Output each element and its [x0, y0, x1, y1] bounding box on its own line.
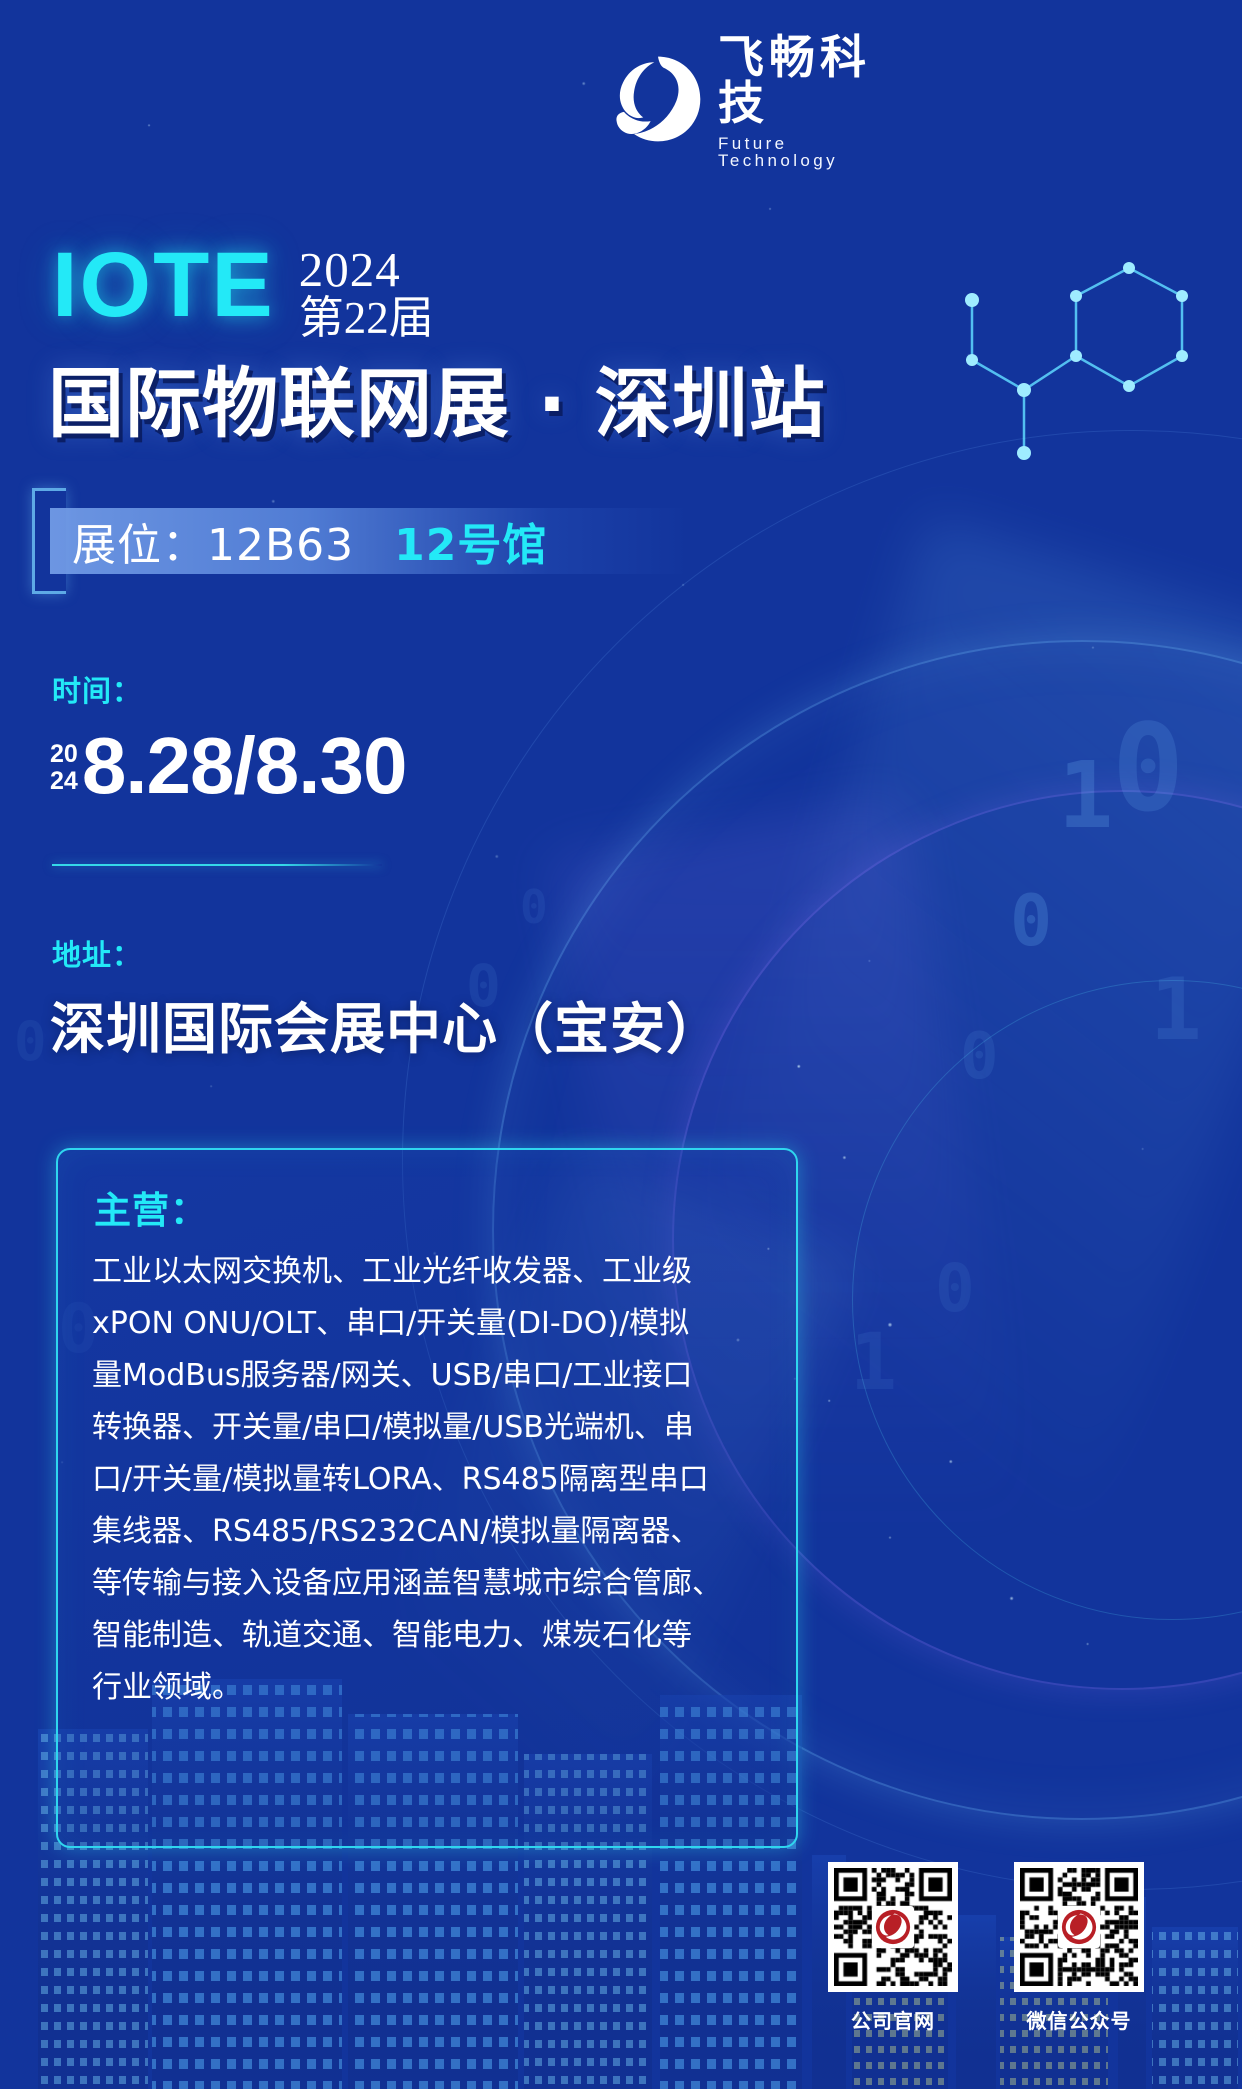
company-logo: 飞畅科技 Future Technology: [612, 46, 912, 152]
poster-canvas: 1 0 0 1 0 1 0 0 0 0 0: [0, 0, 1242, 2089]
qr-caption-wechat: 微信公众号: [1027, 2005, 1132, 2034]
products-line: 工业以太网交换机、工业光纤收发器、工业级: [92, 1246, 766, 1298]
event-acronym-block: IOTE 2024 第22届: [52, 243, 434, 342]
event-year: 2024: [299, 245, 434, 295]
products-description: 工业以太网交换机、工业光纤收发器、工业级 xPON ONU/OLT、串口/开关量…: [92, 1246, 766, 1714]
event-acronym: IOTE: [52, 243, 275, 328]
products-line: 转换器、开关量/串口/模拟量/USB光端机、串: [92, 1402, 766, 1454]
qr-code-wechat[interactable]: [1014, 1862, 1144, 1992]
products-line: xPON ONU/OLT、串口/开关量(DI-DO)/模拟: [92, 1298, 766, 1350]
qr-code-website[interactable]: [828, 1862, 958, 1992]
feichang-red-logo-icon: [872, 1906, 914, 1948]
products-line: 行业领域。: [92, 1662, 766, 1714]
logo-company-name-en: Future Technology: [718, 135, 912, 169]
qr-caption-website: 公司官网: [851, 2005, 935, 2034]
products-line: 智能制造、轨道交通、智能电力、煤炭石化等: [92, 1610, 766, 1662]
products-title: 主营：: [58, 1180, 796, 1234]
products-line: 量ModBus服务器/网关、USB/串口/工业接口: [92, 1350, 766, 1402]
time-year-bottom: 24: [50, 768, 78, 795]
products-line: 等传输与接入设备应用涵盖智慧城市综合管廊、: [92, 1558, 766, 1610]
time-label: 时间：: [52, 668, 142, 710]
address-venue: 深圳国际会展中心（宝安）: [50, 984, 722, 1064]
event-edition: 第22届: [299, 295, 434, 342]
feichang-red-logo-icon: [1058, 1906, 1100, 1948]
booth-label: 展位：: [72, 509, 207, 573]
products-panel: 主营： 工业以太网交换机、工业光纤收发器、工业级 xPON ONU/OLT、串口…: [56, 1148, 798, 1848]
time-value-block: 20 24 8.28/8.30: [50, 726, 406, 806]
time-date-range: 8.28/8.30: [82, 726, 407, 806]
time-year-top: 20: [50, 741, 78, 768]
products-line: 口/开关量/模拟量转LORA、RS485隔离型串口: [92, 1454, 766, 1506]
feichang-swoosh-logo-icon: [612, 53, 704, 145]
booth-number: 12B63: [207, 520, 354, 571]
event-headline: 国际物联网展 · 深圳站: [48, 364, 826, 444]
logo-company-name-cn: 飞畅科技: [718, 34, 912, 126]
qr-item-wechat[interactable]: 微信公众号: [1014, 1862, 1144, 2034]
booth-hall: 12号馆: [394, 509, 547, 573]
section-divider: [52, 864, 382, 866]
qr-item-website[interactable]: 公司官网: [828, 1862, 958, 2034]
address-label: 地址：: [52, 932, 142, 974]
products-line: 集线器、RS485/RS232CAN/模拟量隔离器、: [92, 1506, 766, 1558]
hexagon-molecule-icon: [924, 238, 1224, 518]
booth-info-band: 展位： 12B63 12号馆: [50, 508, 690, 574]
qr-code-group: 公司官网 微信公众号: [828, 1862, 1144, 2034]
time-year-stacked: 20 24: [50, 741, 78, 806]
